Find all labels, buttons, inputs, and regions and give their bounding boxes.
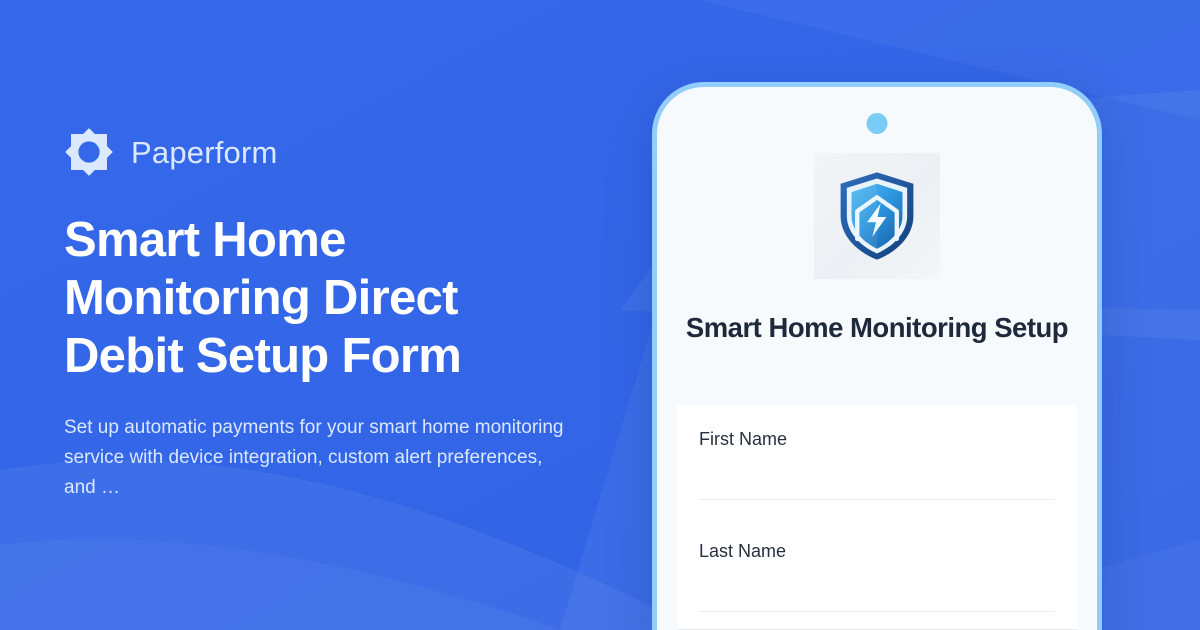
brand-logo: Paperform [64,127,624,177]
form-title: Smart Home Monitoring Setup [685,309,1069,347]
promo-banner: Paperform Smart Home Monitoring Direct D… [0,0,1200,630]
phone-mockup: Smart Home Monitoring Setup First Name L… [652,82,1102,630]
brand-name: Paperform [131,137,278,168]
page-title: Smart Home Monitoring Direct Debit Setup… [64,211,534,385]
field-input-first-name[interactable] [699,499,1055,500]
camera-dot-icon [867,113,888,134]
page-subtitle: Set up automatic payments for your smart… [64,413,569,503]
form-logo [814,153,940,279]
form-field-first-name[interactable]: First Name [677,405,1077,517]
shield-house-bolt-icon [825,164,929,268]
form-field-last-name[interactable]: Last Name [677,517,1077,629]
paperform-logo-icon [64,127,114,177]
field-label: First Name [699,427,1055,451]
field-input-last-name[interactable] [699,611,1055,612]
form-fields: First Name Last Name [677,405,1077,630]
field-label: Last Name [699,539,1055,563]
hero-section: Paperform Smart Home Monitoring Direct D… [64,0,624,630]
